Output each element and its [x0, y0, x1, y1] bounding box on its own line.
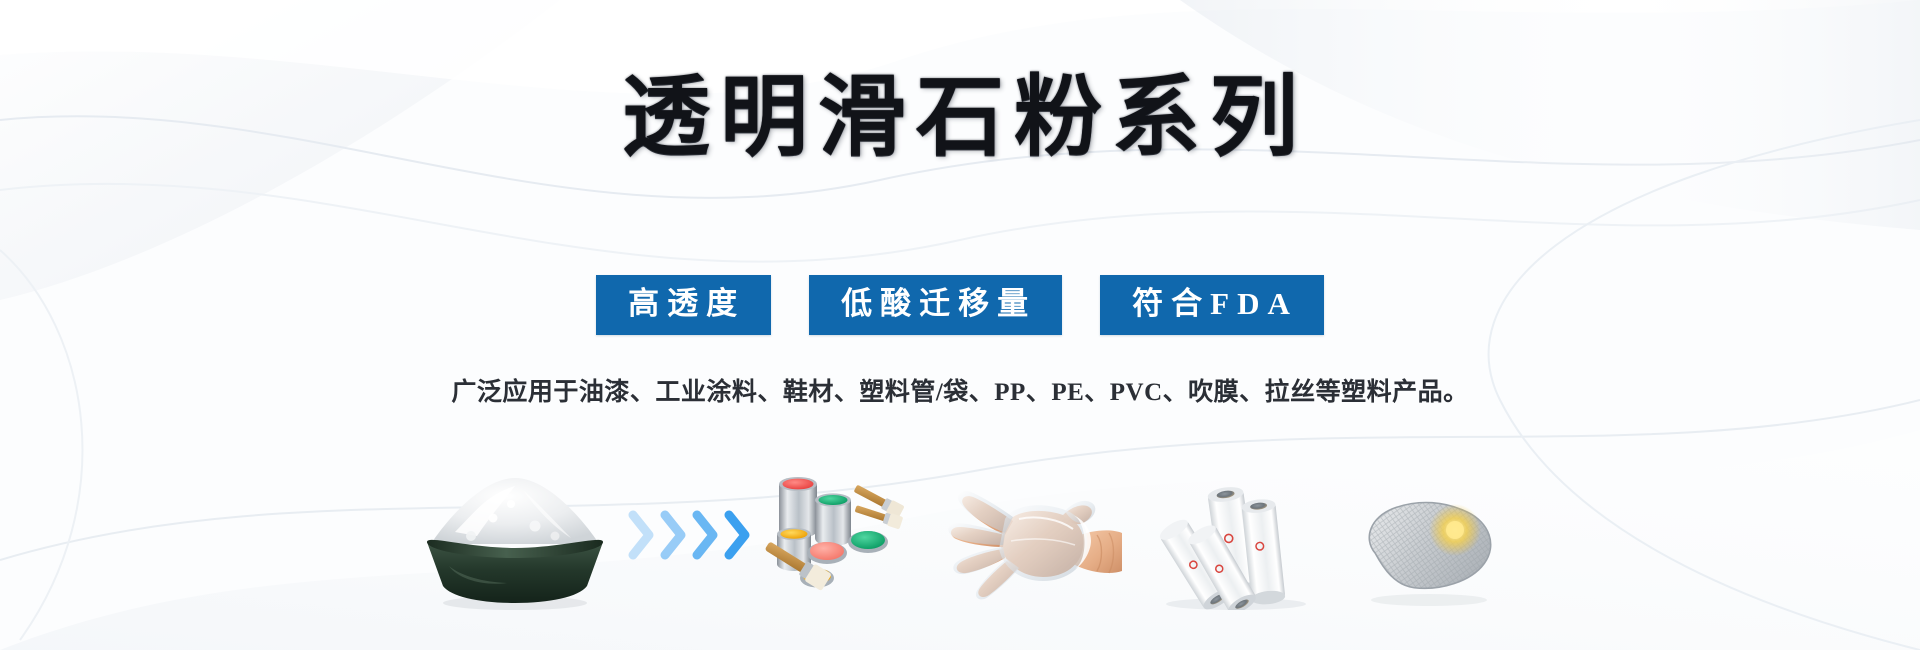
title-container: 透明滑石粉系列 [0, 74, 1920, 164]
chevron-right-icon-2 [659, 509, 689, 561]
talc-powder-bowl-icon [415, 470, 615, 610]
application-description: 广泛应用于油漆、工业涂料、鞋材、塑料管/袋、PP、PE、PVC、吹膜、拉丝等塑料… [451, 372, 1468, 408]
shoe-sole-image [1346, 460, 1511, 610]
film-rolls-icon [1154, 480, 1319, 610]
chevron-right-icon-1 [627, 509, 657, 561]
talc-powder-bowl-image [410, 460, 620, 610]
gloved-hand-icon [947, 485, 1122, 610]
paint-can-green [815, 493, 851, 546]
feature-badge-fda-compliant[interactable]: 符合FDA [1100, 275, 1324, 335]
feature-badge-high-transparency[interactable]: 高透度 [596, 275, 771, 335]
paint-cans-image [760, 460, 920, 610]
paint-cans-icon [765, 460, 915, 610]
feature-badge-list: 高透度 低酸迁移量 符合FDA [0, 275, 1920, 335]
product-banner: 透明滑石粉系列 高透度 低酸迁移量 符合FDA 广泛应用于油漆、工业涂料、鞋材、… [0, 0, 1920, 650]
product-image-strip [0, 430, 1920, 610]
shoe-sole-icon [1351, 490, 1506, 610]
paint-lid-pink [807, 542, 847, 564]
plastic-film-rolls-image [1149, 460, 1324, 610]
plastic-glove-hand-image [942, 460, 1127, 610]
description-container: 广泛应用于油漆、工业涂料、鞋材、塑料管/袋、PP、PE、PVC、吹膜、拉丝等塑料… [0, 372, 1920, 408]
paint-lid-green [848, 531, 888, 553]
chevron-right-icon-3 [691, 509, 721, 561]
process-arrows [620, 460, 760, 610]
chevron-right-icon-4 [723, 509, 753, 561]
page-title: 透明滑石粉系列 [612, 74, 1308, 164]
feature-badge-low-acid-migration[interactable]: 低酸迁移量 [809, 275, 1062, 335]
